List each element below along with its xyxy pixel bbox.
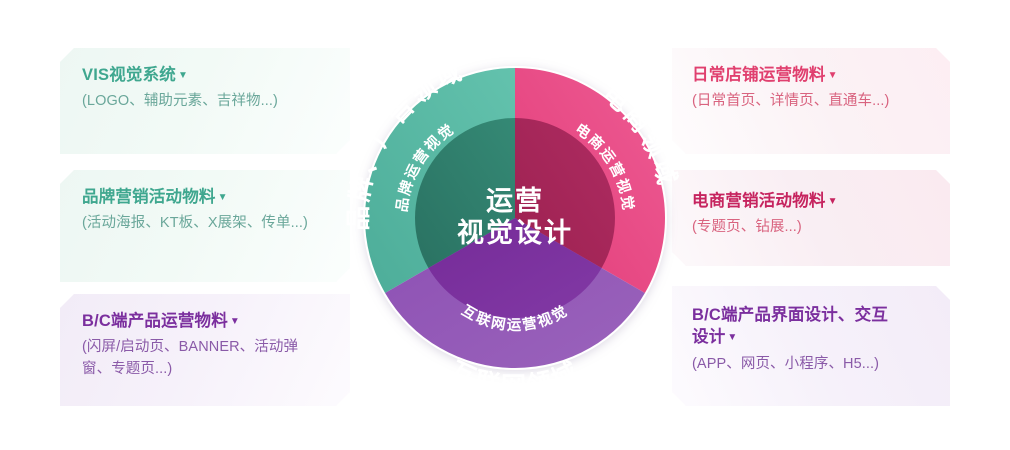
card-subtitle: (日常首页、详情页、直通车...) bbox=[692, 91, 928, 113]
card-subtitle: (活动海报、KT板、X展架、传单...) bbox=[82, 213, 314, 235]
chevron-down-icon[interactable]: ▼ bbox=[828, 69, 838, 83]
infographic-canvas: VIS视觉系统▼ (LOGO、辅助元素、吉祥物...) 品牌营销活动物料▼ (活… bbox=[0, 0, 1010, 450]
card-vis-visual-system[interactable]: VIS视觉系统▼ (LOGO、辅助元素、吉祥物...) bbox=[60, 48, 350, 154]
donut-chart: 品牌、广告领域 电商领域 互联网领域 品牌运营视觉 电商运营视觉 互联网运营视觉… bbox=[330, 33, 700, 403]
card-title: 品牌营销活动物料▼ bbox=[82, 186, 328, 208]
chevron-down-icon[interactable]: ▼ bbox=[828, 195, 838, 209]
card-daily-shop-operation-materials[interactable]: 日常店铺运营物料▼ (日常首页、详情页、直通车...) bbox=[672, 48, 950, 154]
card-bc-product-operation-materials[interactable]: B/C端产品运营物料▼ (闪屏/启动页、BANNER、活动弹窗、专题页...) bbox=[60, 294, 350, 406]
card-bc-product-ui-interaction-design[interactable]: B/C端产品界面设计、交互设计▼ (APP、网页、小程序、H5...) bbox=[672, 286, 950, 406]
donut-svg: 品牌、广告领域 电商领域 互联网领域 品牌运营视觉 电商运营视觉 互联网运营视觉 bbox=[330, 33, 700, 403]
card-subtitle: (闪屏/启动页、BANNER、活动弹窗、专题页...) bbox=[82, 337, 318, 381]
chevron-down-icon[interactable]: ▼ bbox=[230, 315, 240, 329]
card-subtitle: (LOGO、辅助元素、吉祥物...) bbox=[82, 91, 328, 113]
card-title: VIS视觉系统▼ bbox=[82, 64, 328, 86]
card-title: 电商营销活动物料▼ bbox=[692, 190, 928, 212]
chevron-down-icon[interactable]: ▼ bbox=[178, 69, 188, 83]
chevron-down-icon[interactable]: ▼ bbox=[727, 331, 737, 345]
card-title: B/C端产品界面设计、交互设计▼ bbox=[692, 304, 902, 349]
card-ecommerce-marketing-materials[interactable]: 电商营销活动物料▼ (专题页、钻展...) bbox=[672, 170, 950, 266]
card-brand-marketing-materials[interactable]: 品牌营销活动物料▼ (活动海报、KT板、X展架、传单...) bbox=[60, 170, 350, 282]
chevron-down-icon[interactable]: ▼ bbox=[218, 191, 228, 205]
card-subtitle: (APP、网页、小程序、H5...) bbox=[692, 354, 928, 376]
card-title: B/C端产品运营物料▼ bbox=[82, 310, 328, 332]
card-subtitle: (专题页、钻展...) bbox=[692, 217, 928, 239]
card-title: 日常店铺运营物料▼ bbox=[692, 64, 928, 86]
